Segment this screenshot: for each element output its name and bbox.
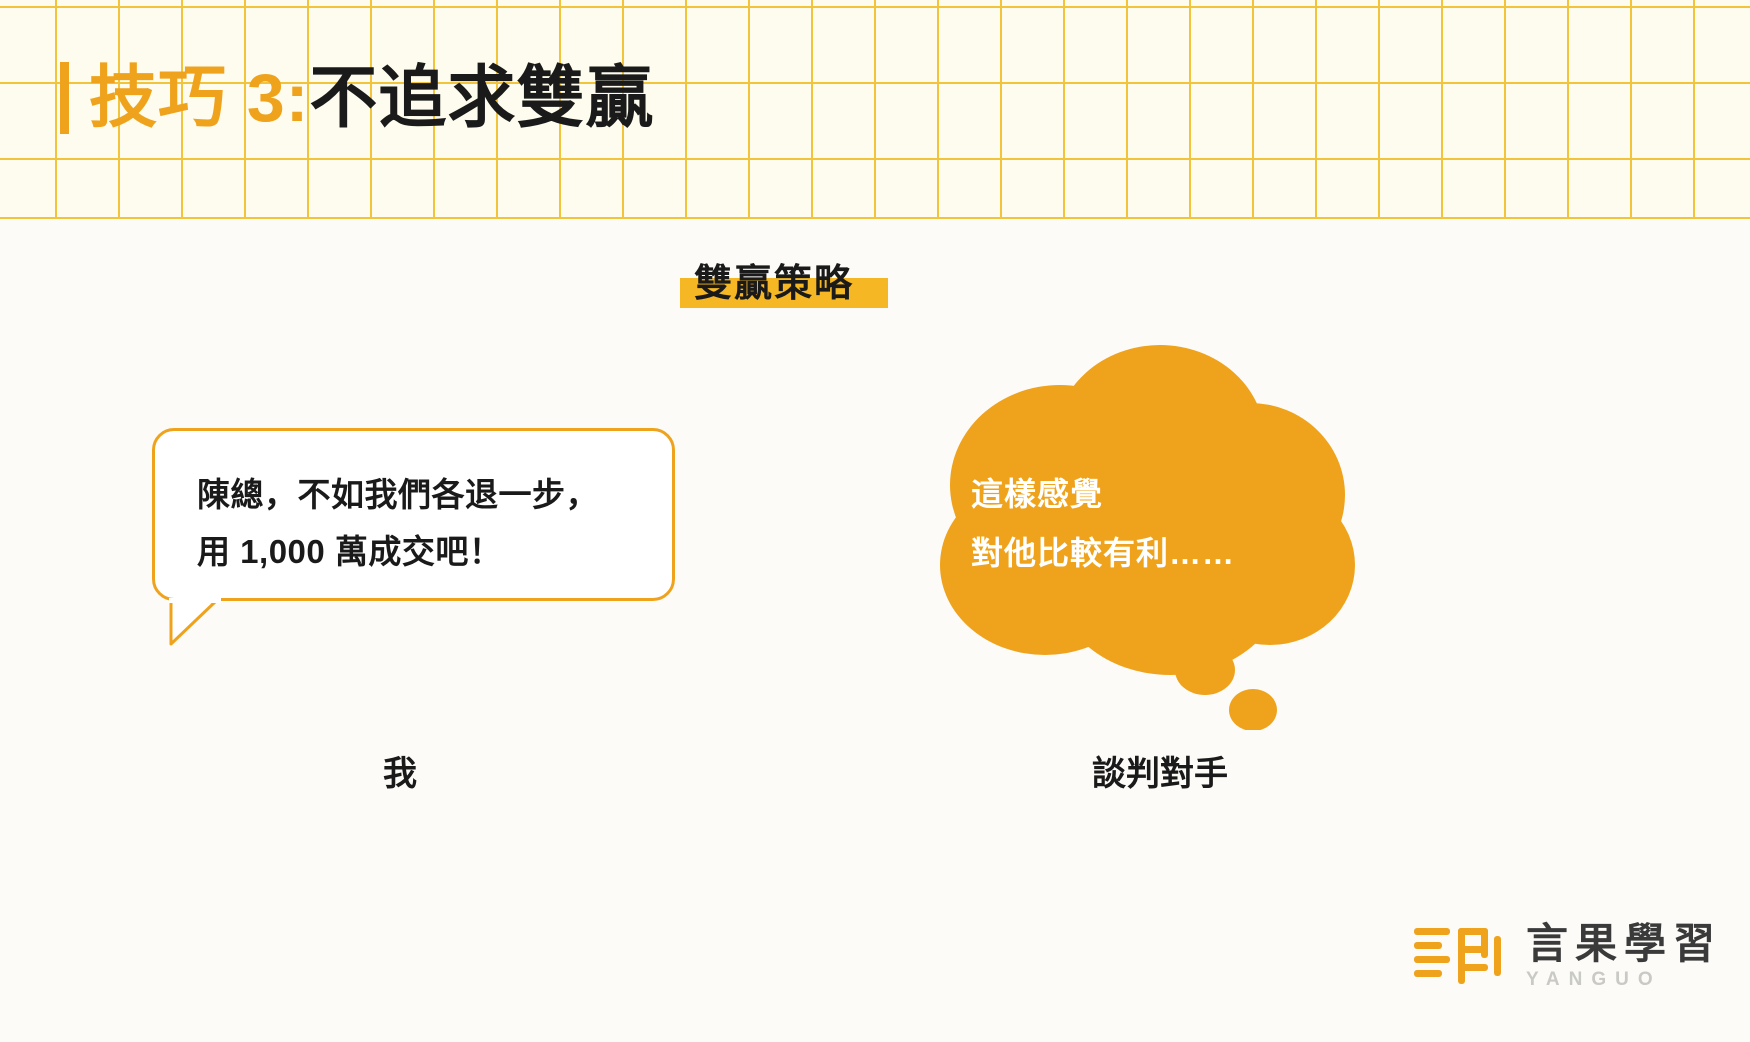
title-main-text: 不追求雙贏: [309, 64, 654, 132]
section-heading-text: 雙贏策略: [680, 265, 868, 308]
speech-line-1: 陳總，不如我們各退一步，: [197, 467, 599, 524]
header-grid-band: 技巧 3: 不追求雙贏: [0, 0, 1750, 219]
label-me: 我: [300, 746, 500, 795]
logo-name-en: YANGUO: [1526, 969, 1722, 992]
logo-name-cn: 言果學習: [1526, 922, 1722, 967]
speech-bubble-me: 陳總，不如我們各退一步， 用 1,000 萬成交吧！: [152, 428, 675, 601]
yanguo-logo-icon: [1412, 922, 1504, 992]
thought-cloud-opponent: 這樣感覺 對他比較有利……: [905, 330, 1355, 730]
thought-line-2: 對他比較有利……: [971, 524, 1235, 583]
speech-bubble-body: 陳總，不如我們各退一步， 用 1,000 萬成交吧！: [197, 467, 599, 581]
section-heading: 雙贏策略: [680, 258, 868, 308]
label-opponent: 談判對手: [1060, 746, 1260, 795]
brand-logo: 言果學習 YANGUO: [1412, 922, 1722, 992]
page-title: 技巧 3: 不追求雙贏: [60, 62, 654, 134]
title-accent-bar: [60, 62, 69, 134]
thought-line-1: 這樣感覺: [971, 465, 1235, 524]
logo-wordmark: 言果學習 YANGUO: [1526, 922, 1722, 991]
thought-cloud-body: 這樣感覺 對他比較有利……: [971, 465, 1235, 583]
speech-line-2: 用 1,000 萬成交吧！: [197, 524, 599, 581]
title-accent-text: 技巧 3:: [89, 64, 309, 132]
